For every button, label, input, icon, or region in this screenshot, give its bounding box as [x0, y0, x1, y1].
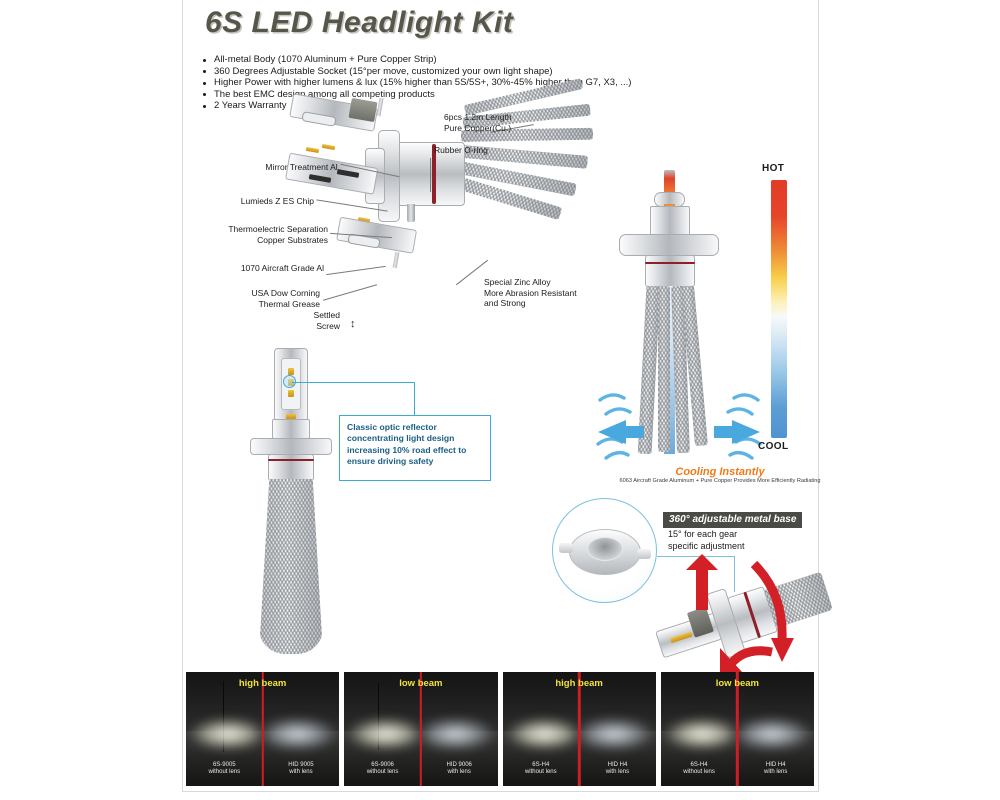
bulb-flange	[250, 438, 332, 455]
page-frame-bottom-border	[182, 791, 819, 792]
thermal-cool-label: COOL	[758, 441, 789, 452]
beam-caption-left: 6S-9006 without lens	[347, 762, 417, 777]
thermal-gradient-bar	[771, 180, 787, 438]
label-rubber-oring: Rubber O-ring	[434, 145, 534, 156]
bulb-neck	[650, 206, 690, 236]
beam-caption-left: 6S-9005 without lens	[189, 762, 259, 777]
beam-caption-left: 6S-H4 without lens	[664, 762, 734, 777]
label-zinc-alloy: Special Zinc Alloy More Abrasion Resista…	[484, 277, 624, 309]
socket-ring-inner	[587, 537, 623, 561]
beam-caption-right: HID 9005 with lens	[266, 762, 336, 777]
settled-screw	[393, 252, 400, 268]
beam-panel: high beam 6S-H4 without lens HID H4 with…	[503, 672, 656, 786]
beam-comparison-strip: high beam 6S-9005 without lens HID 9005 …	[186, 672, 814, 786]
beam-glow-right	[424, 718, 494, 750]
copper-braid-strand	[658, 286, 670, 452]
beam-divider	[420, 672, 422, 786]
cooling-subtitle: 6063 Aircraft Grade Aluminum + Pure Copp…	[0, 478, 1000, 484]
thermal-hot-label: HOT	[762, 163, 784, 174]
beam-glow-left	[506, 718, 576, 750]
label-settled-screw: Settled Screw	[280, 310, 340, 331]
airflow-arrows-right	[706, 388, 762, 460]
beam-title: low beam	[344, 678, 497, 689]
beam-divider	[261, 672, 263, 786]
list-item: 360 Degrees Adjustable Socket (15°per mo…	[200, 66, 670, 78]
beam-glow-left	[189, 718, 259, 750]
beam-glow-right	[582, 718, 652, 750]
mirror-plate-tab	[348, 98, 377, 122]
list-item: All-metal Body (1070 Aluminum + Pure Cop…	[200, 54, 670, 66]
airflow-arrows-left	[596, 388, 652, 460]
beam-panel: low beam 6S-H4 without lens HID H4 with …	[661, 672, 814, 786]
beam-title: high beam	[186, 678, 339, 689]
beam-glow-left	[664, 718, 734, 750]
bulb-flange	[619, 234, 719, 256]
led-chip	[288, 390, 294, 397]
list-item: Higher Power with higher lumens & lux (1…	[200, 77, 670, 89]
copper-braid-skirt	[259, 479, 323, 654]
callout-leader-line	[292, 382, 415, 383]
list-item: The best EMC design among all competing …	[200, 89, 670, 101]
beam-caption-left: 6S-H4 without lens	[506, 762, 576, 777]
label-aircraft-aluminum: 1070 Aircraft Grade Al	[190, 263, 324, 274]
adjustable-badge: 360° adjustable metal base	[663, 512, 802, 528]
beam-panel: high beam 6S-9005 without lens HID 9005 …	[186, 672, 339, 786]
label-copper-braid: 6pcs 1.2m Length Pure Copper(Cu.)	[444, 112, 564, 133]
settled-screw	[376, 98, 383, 116]
socket-tab	[559, 543, 573, 553]
adjustable-detail: 15° for each gear specific adjustment	[668, 529, 745, 552]
callout-stem-line	[414, 383, 415, 415]
label-lumileds-chip: Lumieds Z ES Chip	[190, 196, 314, 207]
left-bulb-assembly	[248, 348, 348, 653]
socket-tab	[637, 549, 651, 559]
leader-line-oring	[430, 158, 431, 192]
beam-caption-right: HID 9006 with lens	[424, 762, 494, 777]
beam-caption-right: HID H4 with lens	[582, 762, 652, 777]
beam-title: low beam	[661, 678, 814, 689]
led-chip	[306, 147, 319, 153]
bulb-neck	[272, 419, 310, 439]
beam-glow-left	[347, 718, 417, 750]
rotation-arrows	[668, 552, 833, 692]
led-chip	[322, 144, 335, 150]
beam-glow-right	[740, 718, 810, 750]
page-title: 6S LED Headlight Kit	[205, 6, 513, 40]
beam-caption-right: HID H4 with lens	[740, 762, 810, 777]
infographic-page: 6S LED Headlight Kit All-metal Body (107…	[0, 0, 1000, 800]
bulb-collar	[645, 255, 695, 287]
led-chip	[288, 368, 294, 375]
reflector-callout-text: Classic optic reflector concentrating li…	[347, 422, 483, 468]
label-thermoelectric: Thermoelectric Separation Copper Substra…	[186, 224, 328, 245]
socket-closeup-circle	[552, 498, 657, 603]
beam-glow-right	[266, 718, 336, 750]
down-arrow-icon: ↕	[350, 318, 356, 330]
beam-panel: low beam 6S-9006 without lens HID 9006 w…	[344, 672, 497, 786]
beam-title: high beam	[503, 678, 656, 689]
cooling-title: Cooling Instantly	[0, 466, 1000, 478]
beam-divider	[578, 672, 580, 786]
label-thermal-grease: USA Dow Corning Thermal Grease	[200, 288, 320, 309]
label-mirror-treatment: Mirror Treatment Al.	[200, 162, 340, 173]
beam-divider	[736, 672, 738, 786]
zinc-alloy-pin	[407, 204, 415, 222]
